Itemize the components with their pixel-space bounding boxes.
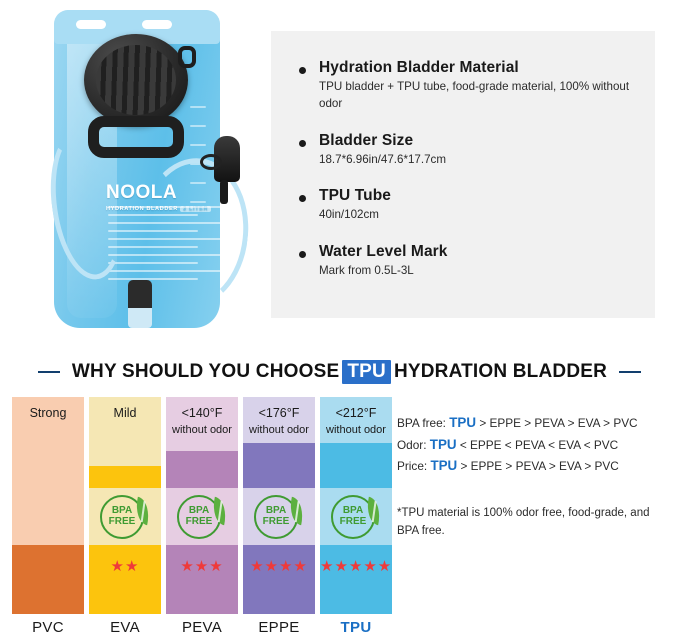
column-header-band: Strong — [12, 397, 84, 545]
column-name-eva: EVA — [89, 619, 161, 636]
banner-text-after: HYDRATION BLADDER — [394, 361, 607, 383]
column-rating-band: ★★ — [89, 545, 161, 614]
spec-item: TPU Tube 40in/102cm — [297, 187, 633, 224]
spec-description: TPU bladder + TPU tube, food-grade mater… — [319, 79, 633, 113]
spec-item: Water Level Mark Mark from 0.5L-3L — [297, 243, 633, 280]
ranking-line: Odor: TPU < EPPE < PEVA < EVA < PVC — [397, 434, 673, 456]
column-rating-band: ★★★ — [166, 545, 238, 614]
column-header-sublabel: without odor — [320, 424, 392, 438]
ranking-prefix: Price: — [397, 459, 430, 473]
banner-tpu-chip: TPU — [342, 360, 391, 384]
rating-stars: ★★★★ — [243, 557, 315, 575]
bpa-free-icon: BPAFREE — [177, 495, 227, 539]
chart-column-eppe: <176°Fwithout odorBPAFREE★★★★ — [243, 397, 315, 614]
column-header-band: Mild — [89, 397, 161, 466]
column-header-label: <140°Fwithout odor — [166, 397, 238, 437]
ranking-line: BPA free: TPU > EPPE > PEVA > EVA > PVC — [397, 412, 673, 434]
specifications-panel: Hydration Bladder Material TPU bladder +… — [271, 31, 655, 318]
column-header-label: <212°Fwithout odor — [320, 397, 392, 437]
column-header-band: <176°Fwithout odor — [243, 397, 315, 443]
bpa-free-icon: BPAFREE — [254, 495, 304, 539]
chart-column-eva: MildBPAFREE★★ — [89, 397, 161, 614]
column-dark-band — [166, 451, 238, 488]
rating-stars: ★★★★★ — [320, 557, 392, 575]
rating-stars: ★★★ — [166, 557, 238, 575]
banner-rule-left — [38, 371, 60, 373]
column-dark-band — [12, 545, 84, 614]
rating-stars: ★★ — [89, 557, 161, 575]
spec-title: Bladder Size — [319, 132, 633, 150]
column-bpa-band: BPAFREE — [243, 488, 315, 545]
spec-item: Hydration Bladder Material TPU bladder +… — [297, 59, 633, 113]
banner-title: WHY SHOULD YOU CHOOSE TPU HYDRATION BLAD… — [72, 360, 607, 384]
ranking-highlight: TPU — [449, 415, 476, 430]
bpa-text-bottom: FREE — [263, 517, 290, 527]
bpa-free-icon: BPAFREE — [100, 495, 150, 539]
column-header-label: Mild — [89, 397, 161, 422]
cap-grip — [96, 45, 176, 115]
ranking-prefix: Odor: — [397, 438, 430, 452]
column-dark-band — [320, 443, 392, 488]
column-name-eppe: EPPE — [243, 619, 315, 636]
ranking-rest: > EPPE > PEVA > EVA > PVC — [457, 459, 619, 473]
hang-hole-right — [142, 20, 172, 29]
cap-tab — [178, 46, 196, 68]
section-banner: WHY SHOULD YOU CHOOSE TPU HYDRATION BLAD… — [0, 358, 679, 386]
banner-text-before: WHY SHOULD YOU CHOOSE — [72, 361, 339, 383]
ranking-line: Price: TPU > EPPE > PEVA > EVA > PVC — [397, 455, 673, 477]
column-bpa-band: BPAFREE — [166, 488, 238, 545]
product-image: NOOLA HYDRATION BLADDER 2 LITER — [18, 8, 262, 334]
bpa-text-bottom: FREE — [186, 517, 213, 527]
chart-column-tpu: <212°Fwithout odorBPAFREE★★★★★ — [320, 397, 392, 614]
ranking-rest: < EPPE < PEVA < EVA < PVC — [457, 438, 619, 452]
column-header-label: Strong — [12, 397, 84, 422]
column-header-sublabel: without odor — [166, 424, 238, 438]
column-header-label: <176°Fwithout odor — [243, 397, 315, 437]
bpa-text-bottom: FREE — [340, 517, 367, 527]
bpa-text-bottom: FREE — [109, 517, 136, 527]
column-bpa-band: BPAFREE — [320, 488, 392, 545]
chart-column-peva: <140°Fwithout odorBPAFREE★★★ — [166, 397, 238, 614]
column-header-sublabel: without odor — [243, 424, 315, 438]
spec-title: TPU Tube — [319, 187, 633, 205]
carry-handle — [88, 116, 184, 158]
column-rating-band: ★★★★★ — [320, 545, 392, 614]
column-name-peva: PEVA — [166, 619, 238, 636]
ranking-highlight: TPU — [430, 437, 457, 452]
chart-column-pvc: Strong — [12, 397, 84, 614]
shutoff-valve-icon — [128, 280, 152, 328]
column-rating-band: ★★★★ — [243, 545, 315, 614]
spec-description: 40in/102cm — [319, 207, 633, 224]
bite-valve-stem — [220, 180, 228, 204]
spec-title: Hydration Bladder Material — [319, 59, 633, 77]
column-dark-band — [243, 443, 315, 488]
screw-cap-icon — [84, 34, 188, 126]
spec-description: 18.7*6.96in/47.6*17.7cm — [319, 152, 633, 169]
ranking-highlight: TPU — [430, 458, 457, 473]
column-dark-band — [89, 466, 161, 488]
bite-valve-ring — [200, 154, 222, 170]
bpa-free-icon: BPAFREE — [331, 495, 381, 539]
spec-description: Mark from 0.5L-3L — [319, 263, 633, 280]
hang-hole-left — [76, 20, 106, 29]
column-name-tpu: TPU — [320, 619, 392, 636]
comparison-rankings: BPA free: TPU > EPPE > PEVA > EVA > PVC … — [397, 412, 673, 477]
spec-item: Bladder Size 18.7*6.96in/47.6*17.7cm — [297, 132, 633, 169]
footnote: *TPU material is 100% odor free, food-gr… — [397, 505, 665, 541]
column-name-pvc: PVC — [12, 619, 84, 636]
spec-title: Water Level Mark — [319, 243, 633, 261]
column-header-band: <140°Fwithout odor — [166, 397, 238, 451]
column-bpa-band: BPAFREE — [89, 488, 161, 545]
ranking-prefix: BPA free: — [397, 416, 449, 430]
banner-rule-right — [619, 371, 641, 373]
column-header-band: <212°Fwithout odor — [320, 397, 392, 443]
ranking-rest: > EPPE > PEVA > EVA > PVC — [476, 416, 638, 430]
